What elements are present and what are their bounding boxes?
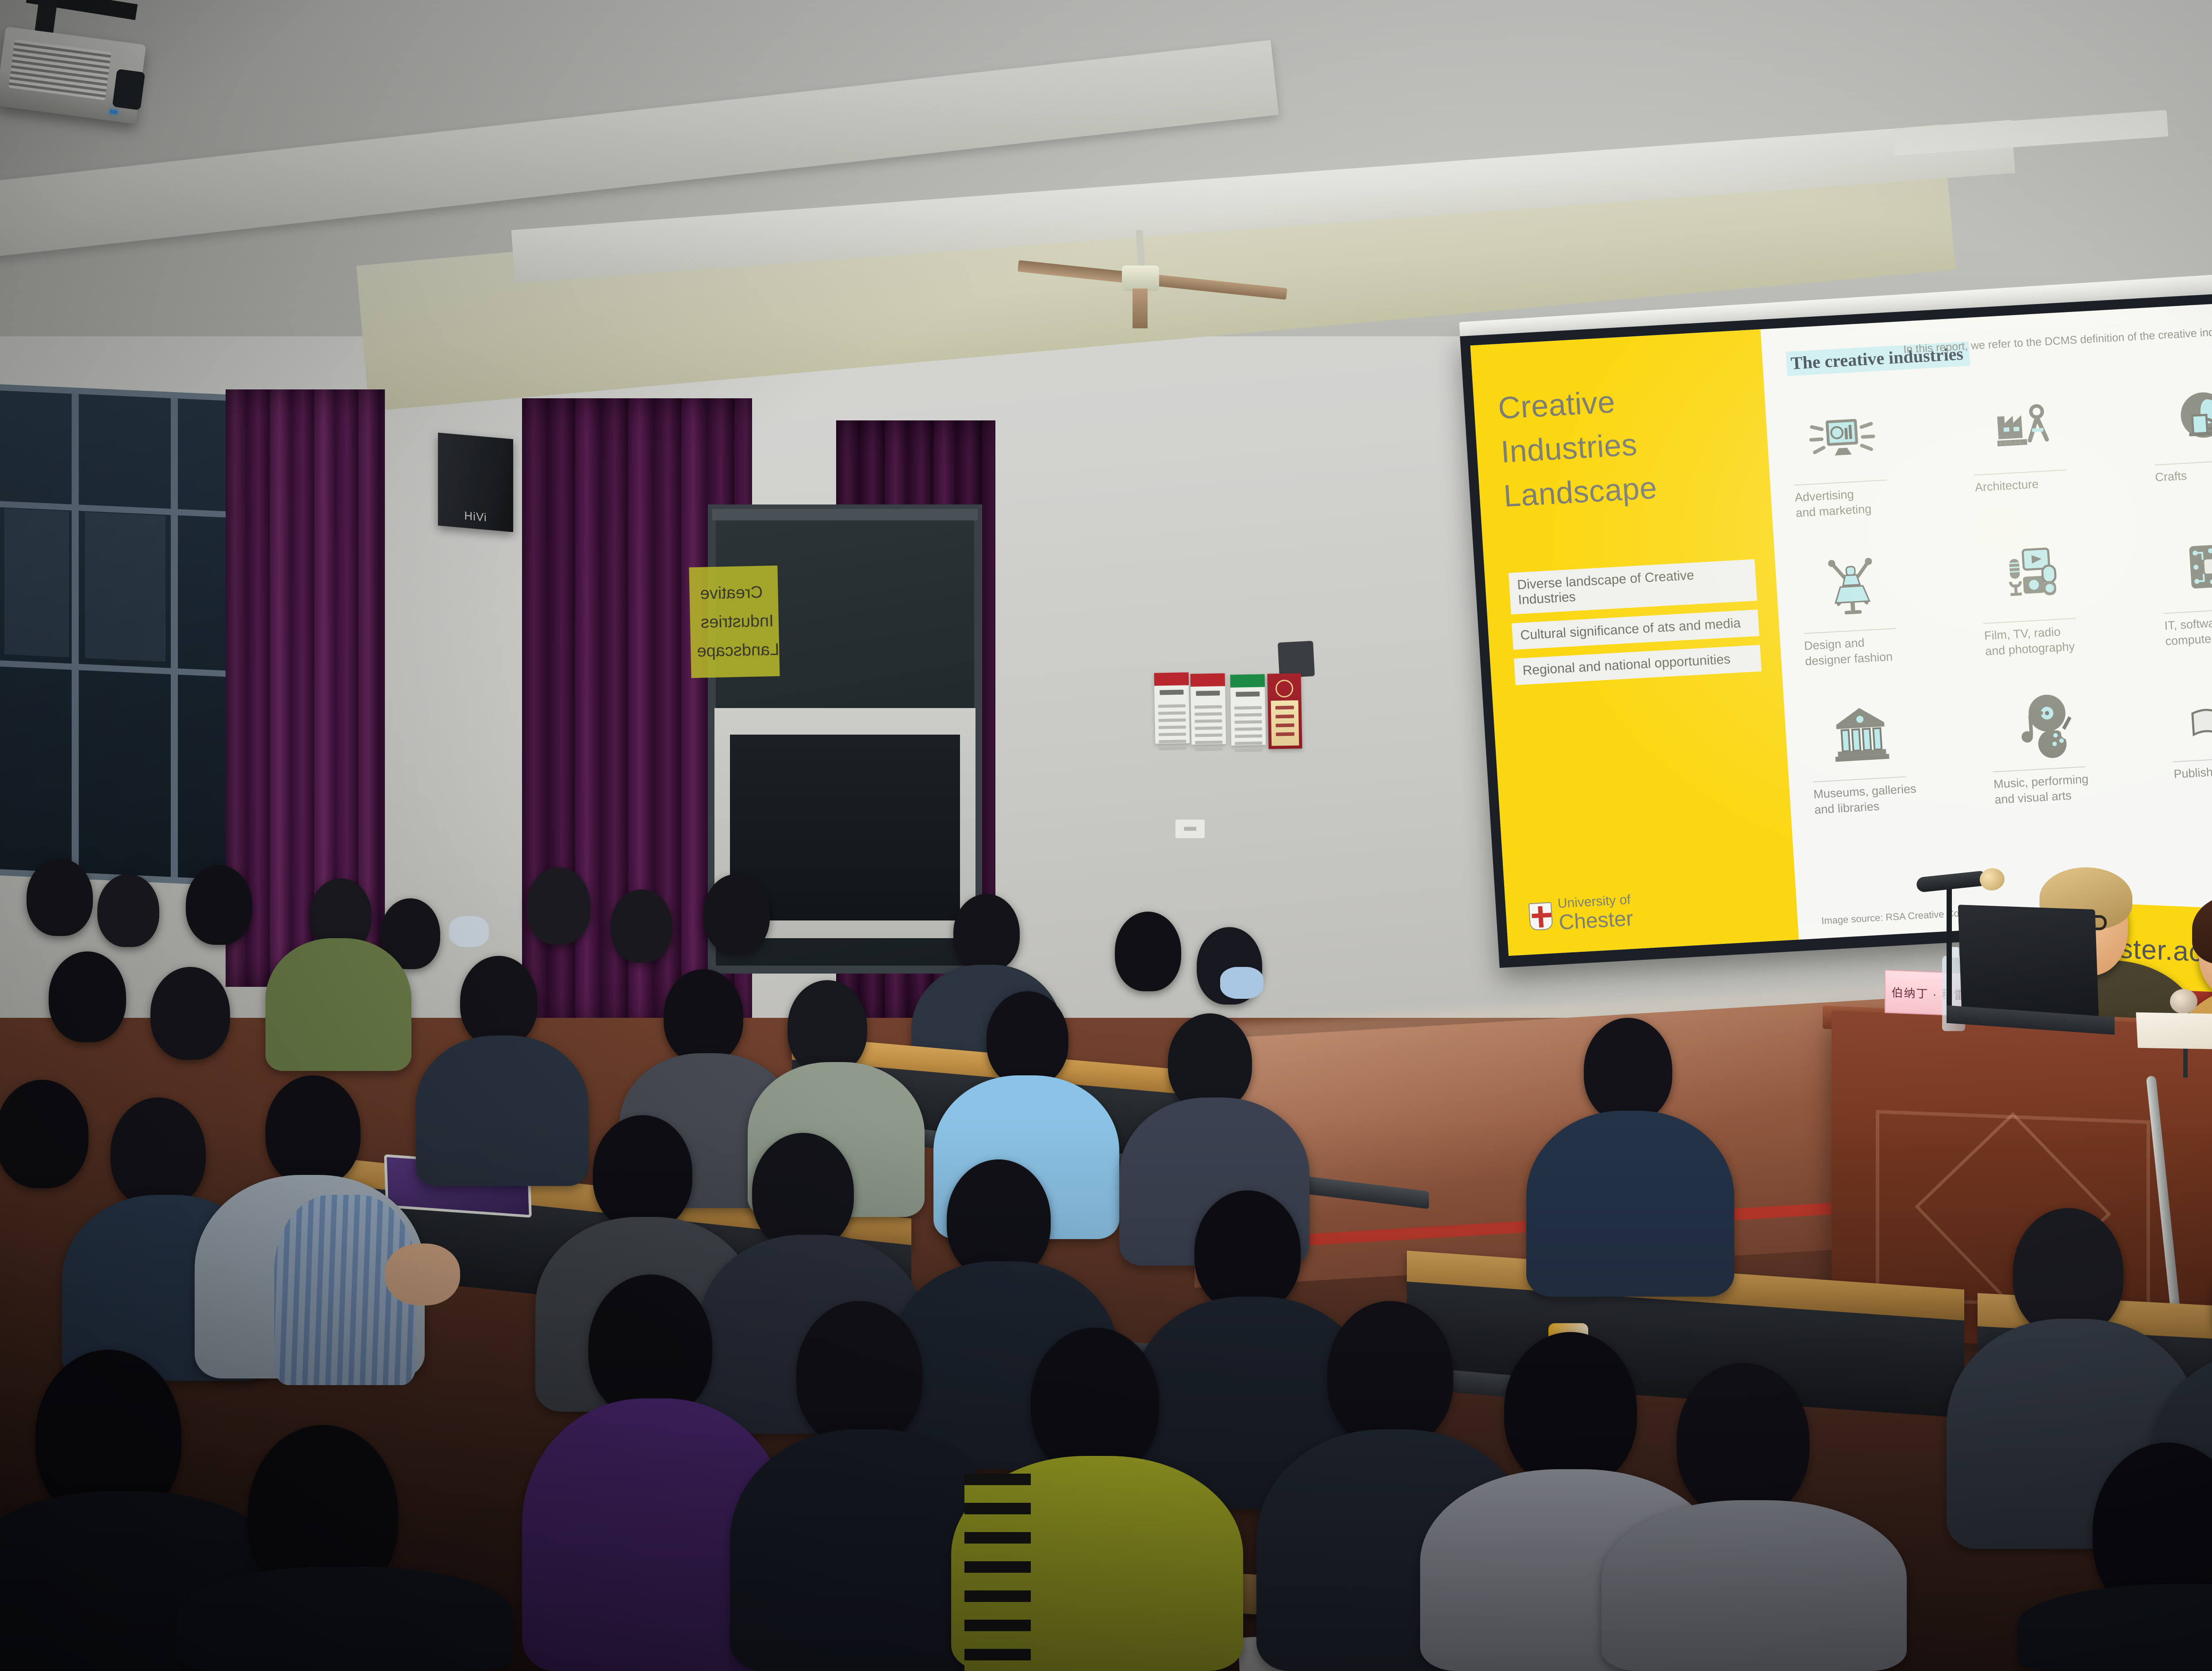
slide-bullet: Cultural significance of ats and media xyxy=(1512,610,1759,650)
audience-head xyxy=(150,967,230,1060)
industry-label: Music, performing and visual arts xyxy=(1993,771,2090,807)
notice-body xyxy=(1155,701,1190,750)
industry-label: Film, TV, radio and photography xyxy=(1984,624,2075,659)
audience-head xyxy=(588,1274,712,1418)
laptop-screen[interactable] xyxy=(1958,905,2099,1020)
notice-header xyxy=(1190,673,1225,686)
film-tv-radio-camera-icon xyxy=(1992,536,2072,620)
audience-face-mask xyxy=(1220,967,1263,999)
audience-head xyxy=(49,951,126,1042)
notice-title-bar xyxy=(1160,689,1183,695)
audience-head xyxy=(796,1301,922,1447)
industry-cell: IT, software and computer services xyxy=(2158,521,2212,679)
audience-head xyxy=(265,1075,361,1186)
reflection-line-3: Landscape xyxy=(697,640,780,661)
window-mullion xyxy=(171,398,178,878)
slide-title: Creative Industries Landscape xyxy=(1497,372,1771,518)
slide-reflection-in-glass: Creative Industries Landscape xyxy=(689,566,780,678)
presentation-slide: Creative Industries Landscape Diverse la… xyxy=(1470,297,2212,956)
logo-line-2: Chester xyxy=(1558,908,1634,933)
audience-head xyxy=(1504,1332,1637,1487)
table-microphone-head xyxy=(2170,989,2197,1014)
audience-head xyxy=(460,956,538,1047)
industry-cell: Publishing xyxy=(2168,670,2212,828)
presenter-notes[interactable] xyxy=(2136,1013,2212,1050)
audience-head xyxy=(611,889,672,963)
audience-head xyxy=(953,894,1020,971)
university-logo: University of Chester xyxy=(1528,893,1634,935)
audience-body xyxy=(265,938,411,1071)
wall-speaker: HiVi xyxy=(438,433,513,532)
audience-head xyxy=(1168,1013,1252,1111)
crafts-pottery-icon xyxy=(2162,377,2212,461)
industry-label: Crafts xyxy=(2154,468,2187,485)
industry-cell: Film, TV, radio and photography xyxy=(1978,531,2156,689)
window-mullion xyxy=(72,394,79,873)
projector-lens-icon xyxy=(112,69,146,111)
advertising-monitor-icon xyxy=(1802,398,1882,481)
reflection-line-2: Industries xyxy=(696,611,779,632)
museums-galleries-columns-icon xyxy=(1821,694,1901,778)
creative-industries-grid: Advertising and marketing xyxy=(1789,373,2212,848)
industry-label: Publishing xyxy=(2173,764,2212,782)
audience-face-mask xyxy=(449,916,489,947)
audience-head xyxy=(97,874,159,947)
notice-body xyxy=(1231,702,1266,752)
notice-title-bar xyxy=(1236,691,1260,697)
audience-body xyxy=(1526,1111,1734,1297)
window-pane xyxy=(4,508,69,658)
audience-head xyxy=(1327,1301,1453,1447)
industry-label: IT, software and computer services xyxy=(2164,613,2212,649)
audience-head xyxy=(987,991,1068,1086)
reflection-line-1: Creative xyxy=(695,582,778,603)
ceiling-fan-downrod xyxy=(1133,289,1148,328)
crest-icon xyxy=(1275,680,1294,698)
audience-head xyxy=(1677,1363,1809,1518)
wall-speaker-small xyxy=(1278,641,1315,678)
audience-head xyxy=(0,1080,88,1188)
door-transom xyxy=(712,509,978,520)
wall-notice-green xyxy=(1230,674,1266,745)
university-logo-text: University of Chester xyxy=(1557,893,1634,933)
music-performing-arts-icon xyxy=(2001,684,2081,768)
chester-shield-icon xyxy=(1528,902,1553,931)
slide-left-panel: Creative Industries Landscape Diverse la… xyxy=(1470,329,1798,956)
speaker-brand-label: HiVi xyxy=(438,507,513,527)
audience-head xyxy=(1584,1018,1672,1122)
audience-body xyxy=(1601,1500,1907,1671)
audience-hands-clasped xyxy=(385,1244,460,1305)
architecture-factory-compass-icon xyxy=(1982,388,2062,471)
audience-head xyxy=(1031,1328,1159,1476)
projection-screen: Creative Industries Landscape Diverse la… xyxy=(1460,287,2212,968)
projector-power-led xyxy=(110,109,118,114)
audience-head xyxy=(593,1115,692,1230)
slide-bullet: Diverse landscape of Creative Industries xyxy=(1509,559,1757,615)
audience-head xyxy=(27,859,93,936)
audience-head xyxy=(186,865,252,945)
industry-label: Design and designer fashion xyxy=(1804,634,1893,669)
slide-right-panel: The creative industries In this report, … xyxy=(1760,297,2212,939)
industry-cell: Music, performing and visual arts xyxy=(1988,680,2166,838)
industry-label: Architecture xyxy=(1974,477,2039,496)
publishing-books-icon xyxy=(2181,674,2212,758)
audience-head xyxy=(1115,912,1181,991)
slide-bullet: Regional and national opportunities xyxy=(1514,645,1762,685)
notice-header xyxy=(1230,674,1265,687)
wall-notice xyxy=(1154,672,1190,743)
industry-label: Advertising and marketing xyxy=(1794,486,1872,521)
window-pane xyxy=(85,512,165,662)
audience-head xyxy=(787,980,867,1074)
audience-head xyxy=(664,969,743,1063)
window-transom xyxy=(0,660,233,677)
slide-intro-text: In this report, we refer to the DCMS def… xyxy=(1903,318,2212,356)
slide-bullet-list: Diverse landscape of Creative Industries… xyxy=(1509,558,1782,685)
wall-socket[interactable] xyxy=(1175,819,1206,839)
wall-award-banner xyxy=(1267,673,1302,749)
industry-cell: Advertising and marketing xyxy=(1789,393,1966,551)
audience-head xyxy=(752,1133,854,1250)
industry-cell: Museums, galleries and libraries xyxy=(1808,690,1985,848)
projector-vent xyxy=(8,39,111,100)
industry-label: Museums, galleries and libraries xyxy=(1813,781,1918,817)
left-window-bank xyxy=(0,384,239,886)
audience-head xyxy=(2013,1208,2124,1336)
audience-body xyxy=(177,1567,513,1671)
wall-notice xyxy=(1190,673,1226,744)
audience-jacket-stripe xyxy=(964,1474,1031,1671)
industry-cell: Design and designer fashion xyxy=(1798,542,1976,700)
audience-body xyxy=(416,1036,588,1186)
it-software-chip-icon xyxy=(2172,526,2212,609)
notice-title-bar xyxy=(1196,690,1220,696)
ceiling-fan-hub xyxy=(1122,266,1159,291)
notice-body xyxy=(1191,701,1226,751)
audience-head xyxy=(526,867,591,945)
award-plate xyxy=(1271,701,1299,746)
microphone-stand xyxy=(1947,885,1952,1018)
audience-head xyxy=(703,874,770,954)
design-fashion-mannequin-icon xyxy=(1812,546,1892,630)
audience-head xyxy=(1194,1190,1301,1312)
industry-cell: Crafts xyxy=(2149,373,2212,531)
audience-head xyxy=(111,1097,206,1208)
industry-cell: Architecture xyxy=(1969,383,2147,541)
notice-header xyxy=(1154,672,1189,685)
lecture-hall-scene: Creative Industries Landscape HiVi xyxy=(0,0,2212,1671)
